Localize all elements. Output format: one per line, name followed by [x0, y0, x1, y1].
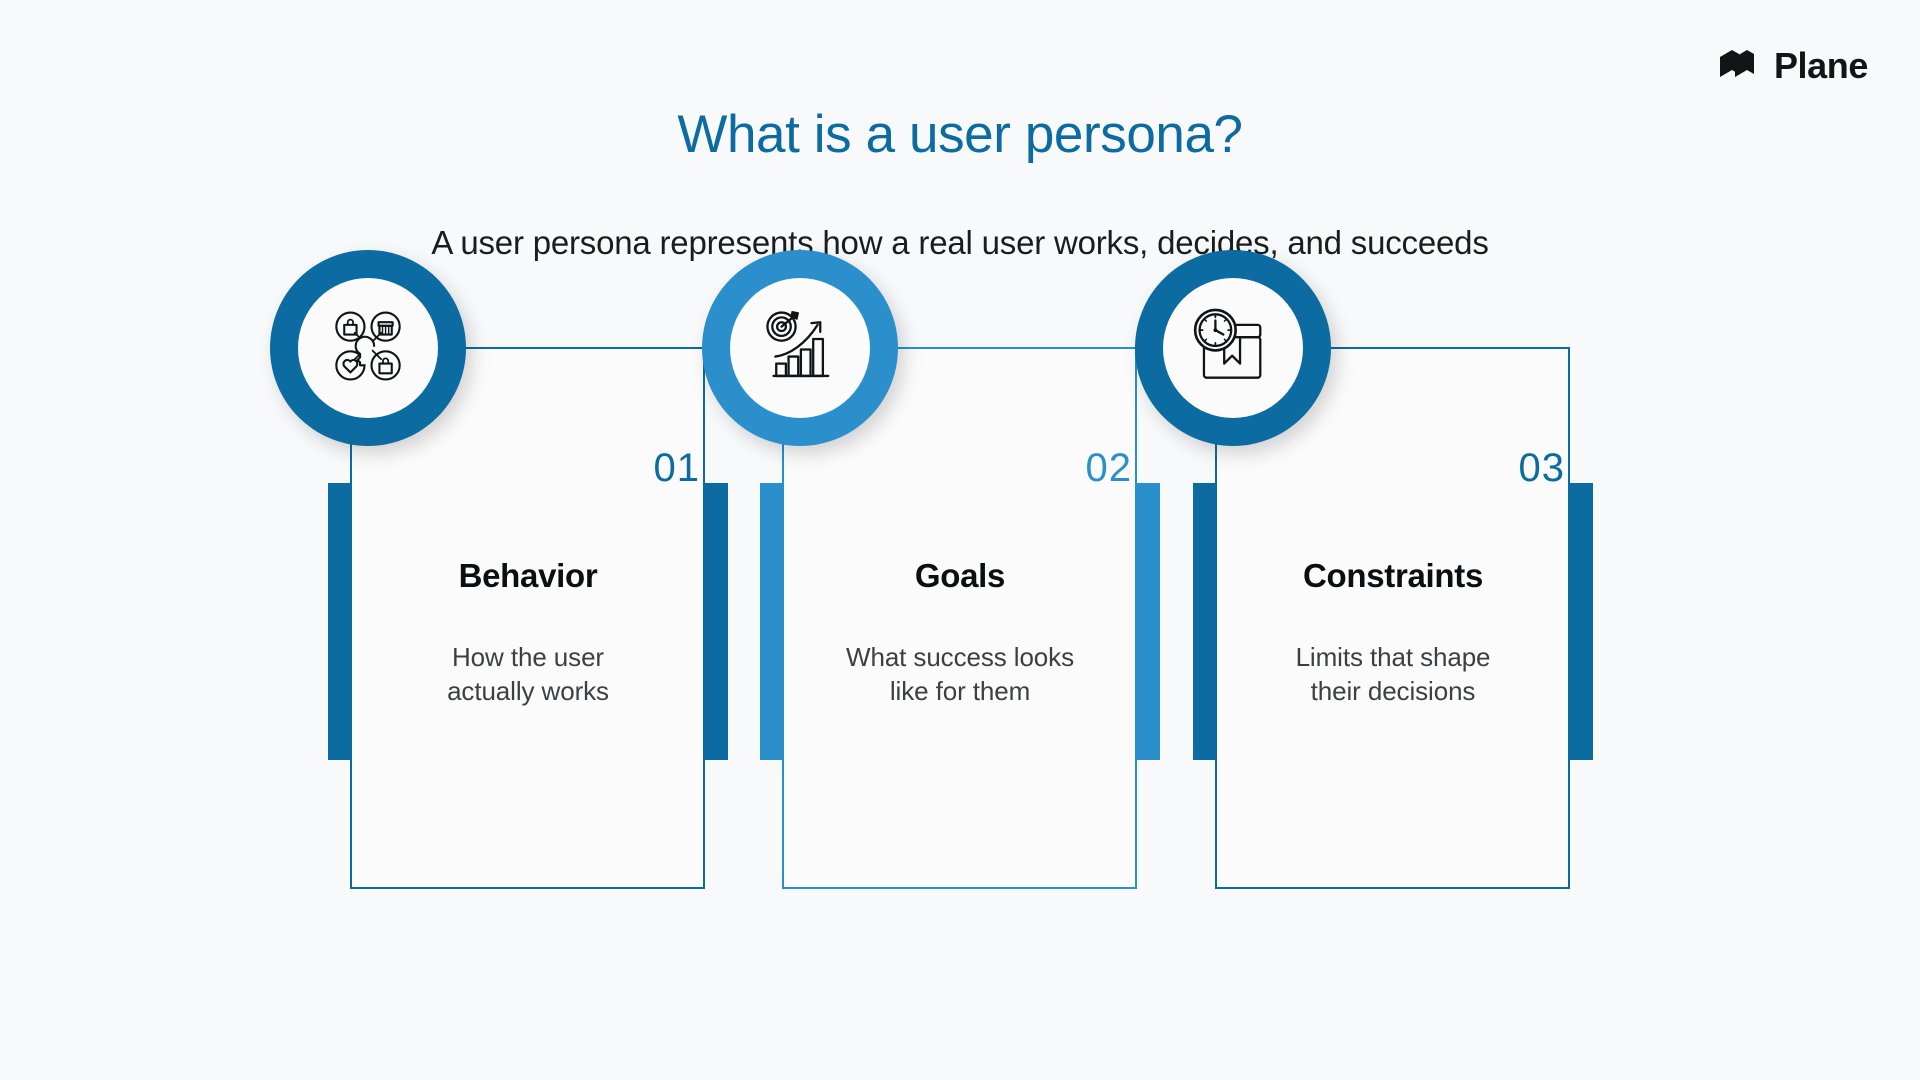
persona-card-goals[interactable]: 02 [760, 300, 1160, 940]
page-subtitle: A user persona represents how a real use… [0, 225, 1920, 261]
plane-logo-mark-icon [1719, 49, 1761, 84]
card-number: 01 [654, 448, 701, 488]
card-description: Limits that shapetheir decisions [1193, 640, 1593, 709]
persona-behavior-icon [324, 302, 412, 395]
target-growth-chart-icon [756, 302, 844, 395]
page-title: What is a user persona? [0, 106, 1920, 164]
card-icon-ring [702, 250, 898, 446]
card-icon-ring-inner [730, 278, 870, 418]
card-icon-ring-inner [1163, 278, 1303, 418]
card-description: How the useractually works [328, 640, 728, 709]
card-number: 02 [1086, 448, 1133, 488]
card-heading: Behavior [328, 558, 728, 594]
card-heading: Goals [760, 558, 1160, 594]
card-description: What success lookslike for them [760, 640, 1160, 709]
brand-logo: Plane [1719, 48, 1868, 84]
persona-cards-row: 01 [328, 300, 1593, 940]
card-heading: Constraints [1193, 558, 1593, 594]
brand-name: Plane [1774, 48, 1868, 84]
clock-package-icon [1189, 302, 1277, 395]
card-number: 03 [1519, 448, 1566, 488]
persona-card-constraints[interactable]: 03 [1193, 300, 1593, 940]
card-icon-ring [1135, 250, 1331, 446]
card-icon-ring-inner [298, 278, 438, 418]
card-icon-ring [270, 250, 466, 446]
persona-card-behavior[interactable]: 01 [328, 300, 728, 940]
